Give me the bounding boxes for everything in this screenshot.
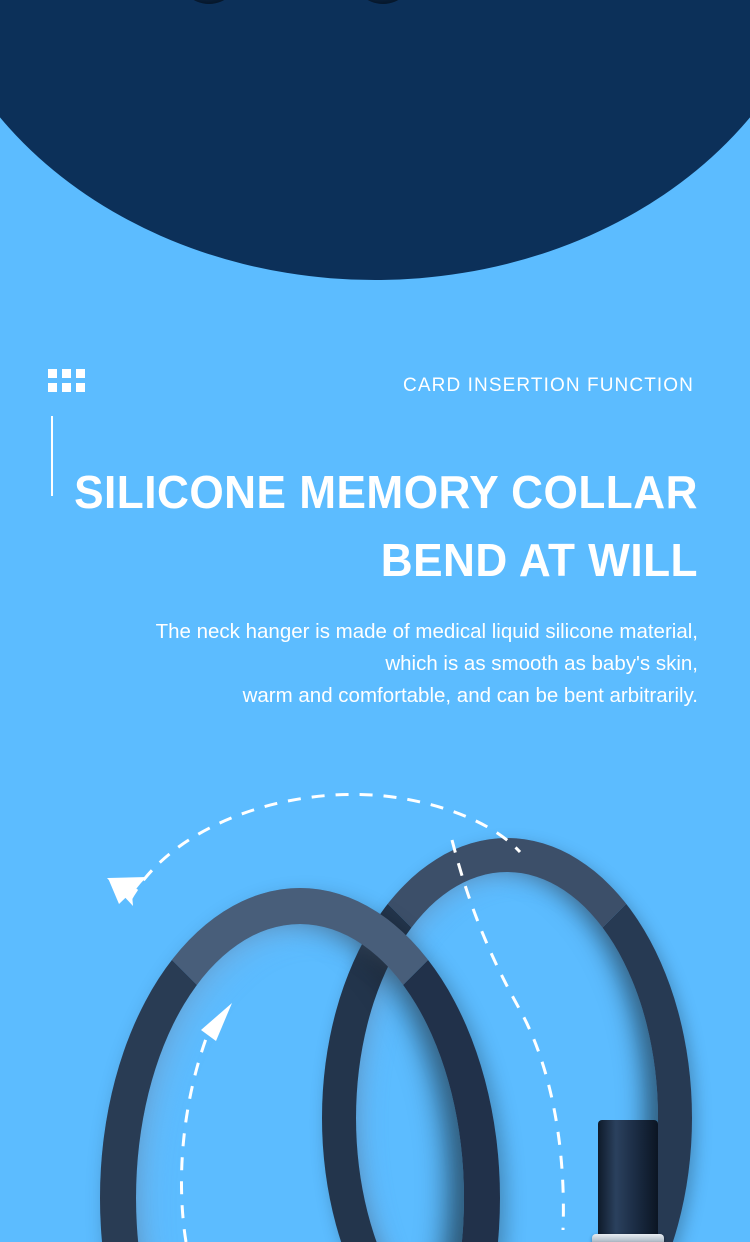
paragraph-line-3: warm and comfortable, and can be bent ar… [38, 680, 698, 712]
product-marketing-page: CARD INSERTION FUNCTION SILICONE MEMORY … [0, 0, 750, 1242]
headline-line-1: SILICONE MEMORY COLLAR [64, 458, 698, 526]
description-paragraph: The neck hanger is made of medical liqui… [38, 616, 698, 712]
dots-grid-icon [48, 369, 85, 392]
dot-square [62, 383, 71, 392]
paragraph-line-1: The neck hanger is made of medical liqui… [38, 616, 698, 648]
dot-square [62, 369, 71, 378]
motion-arrows-layer [0, 760, 750, 1242]
dot-square [76, 369, 85, 378]
bend-arrow-left-path [130, 794, 520, 900]
bend-arrow-right-path [452, 840, 563, 1230]
bend-arrow-inner-path [181, 1028, 210, 1242]
dot-square [48, 383, 57, 392]
hero-dark-ellipse [0, 0, 750, 280]
eyebrow-label: CARD INSERTION FUNCTION [403, 375, 694, 397]
headline-line-2: BEND AT WILL [64, 526, 698, 594]
product-image [0, 760, 750, 1242]
vertical-accent-bar [51, 416, 53, 496]
page-title: SILICONE MEMORY COLLAR BEND AT WILL [64, 458, 698, 594]
dot-square [48, 369, 57, 378]
paragraph-line-2: which is as smooth as baby's skin, [38, 648, 698, 680]
earbud-right-icon [352, 0, 414, 4]
bend-arrow-inner-head [201, 1003, 232, 1041]
dot-square [76, 383, 85, 392]
